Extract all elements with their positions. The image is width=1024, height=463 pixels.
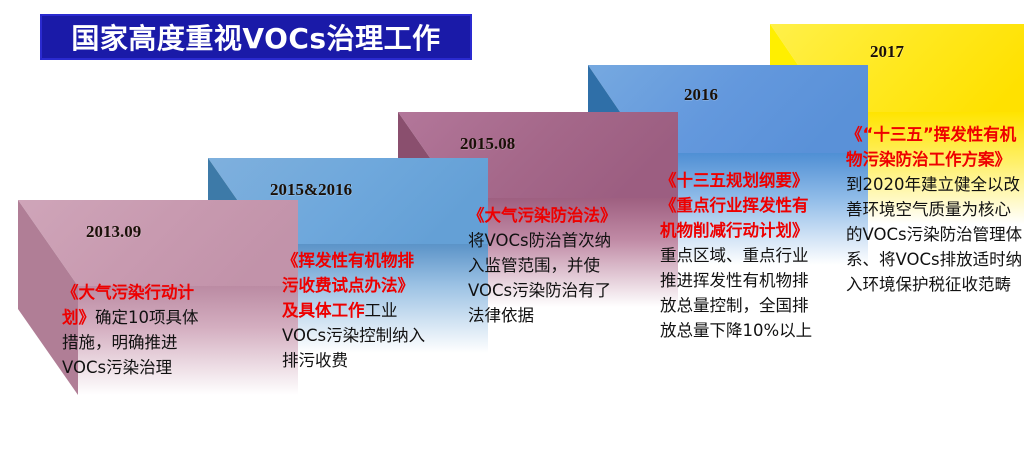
step-text-2017-highlight: 《“十三五”挥发性有机物污染防治工作方案》 bbox=[846, 125, 1016, 169]
step-text-2015-08-body: 将VOCs防治首次纳入监管范围，并使VOCs污染防治有了法律依据 bbox=[468, 231, 611, 325]
page-title: 国家高度重视VOCs治理工作 bbox=[71, 17, 440, 57]
step-year-2017: 2017 bbox=[870, 42, 904, 62]
step-text-2015-08: 《大气污染防治法》将VOCs防治首次纳入监管范围，并使VOCs污染防治有了法律依… bbox=[468, 203, 620, 328]
step-text-2017-body: 到2020年建立健全以改善环境空气质量为核心的VOCs污染防治管理体系、将VOC… bbox=[846, 175, 1022, 294]
step-text-2016: 《十三五规划纲要》《重点行业挥发性有机物削减行动计划》重点区域、重点行业推进挥发… bbox=[660, 168, 814, 344]
step-text-2015-2016: 《挥发性有机物排污收费试点办法》及具体工作工业VOCs污染控制纳入排污收费 bbox=[282, 248, 430, 373]
step-text-2016-body: 重点区域、重点行业推进挥发性有机物排放总量控制，全国排放总量下降10%以上 bbox=[660, 246, 812, 340]
step-text-2017: 《“十三五”挥发性有机物污染防治工作方案》到2020年建立健全以改善环境空气质量… bbox=[846, 122, 1024, 457]
title-banner: 国家高度重视VOCs治理工作 bbox=[40, 14, 472, 60]
step-year-2015-2016: 2015&2016 bbox=[270, 180, 352, 200]
infographic-canvas: 国家高度重视VOCs治理工作 201 bbox=[0, 0, 1024, 463]
step-text-2015-08-highlight: 《大气污染防治法》 bbox=[468, 206, 617, 225]
step-text-2016-highlight: 《十三五规划纲要》《重点行业挥发性有机物削减行动计划》 bbox=[660, 171, 809, 240]
step-year-2016: 2016 bbox=[684, 85, 718, 105]
step-text-2013-09: 《大气污染行动计划》确定10项具体措施，明确推进VOCs污染治理 bbox=[62, 280, 210, 380]
step-year-2013-09: 2013.09 bbox=[86, 222, 141, 242]
step-year-2015-08: 2015.08 bbox=[460, 134, 515, 154]
